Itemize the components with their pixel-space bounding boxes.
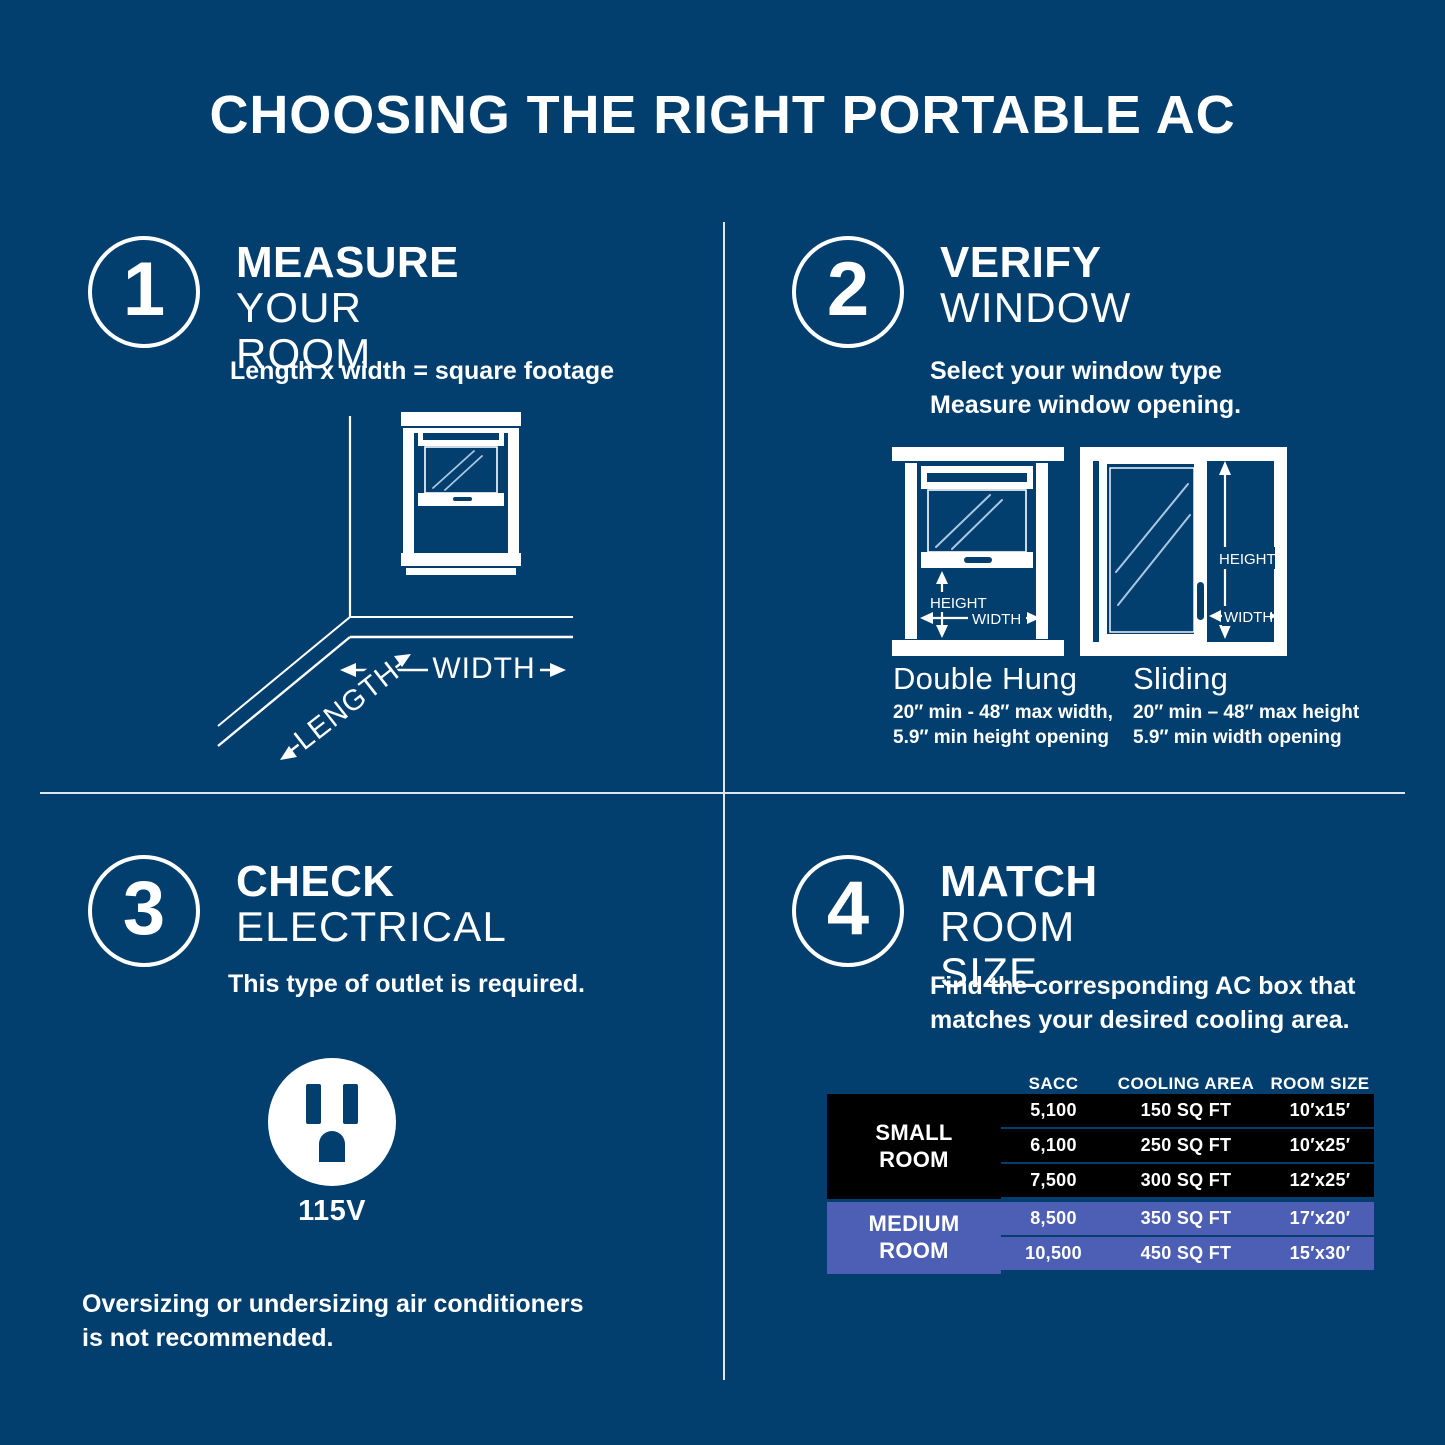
power-outlet-icon — [259, 1058, 405, 1186]
table-header-row: SACC COOLING AREA ROOM SIZE — [827, 1065, 1374, 1094]
double-hung-window-figure: HEIGHT WIDTH — [892, 447, 1064, 656]
ac-sizing-table: SACC COOLING AREA ROOM SIZE SMALL ROOM M… — [827, 1065, 1374, 1274]
table-row: 8,500 350 SQ FT 17′x20′ — [1001, 1202, 1374, 1235]
window-type-detail-2: 5.9″ min height opening — [893, 725, 1113, 750]
step-3-note: Oversizing or undersizing air conditione… — [82, 1288, 583, 1355]
group-label-line2: ROOM — [879, 1238, 949, 1265]
step-1-number-badge: 1 — [88, 236, 200, 348]
cell-cooling-area: 150 SQ FT — [1106, 1100, 1266, 1121]
step-2-heading: VERIFY WINDOW — [940, 240, 1131, 331]
divider-horizontal — [40, 792, 1405, 794]
step-3-title-light: ELECTRICAL — [236, 904, 507, 949]
sliding-window-figure: HEIGHT WIDTH — [1080, 447, 1287, 656]
cell-cooling-area: 250 SQ FT — [1106, 1135, 1266, 1156]
window-type-sliding-caption: Sliding 20″ min – 48″ max height 5.9″ mi… — [1133, 662, 1359, 750]
window-types-diagram: HEIGHT WIDTH — [884, 442, 1364, 662]
step-4-number: 4 — [827, 871, 869, 947]
cell-cooling-area: 450 SQ FT — [1106, 1243, 1266, 1264]
window-type-name: Sliding — [1133, 662, 1359, 697]
table-row: 5,100 150 SQ FT 10′x15′ — [1001, 1094, 1374, 1127]
step-2-subtitle-line1: Select your window type — [930, 355, 1241, 389]
svg-text:WIDTH: WIDTH — [972, 611, 1021, 628]
cell-room-size: 12′x25′ — [1266, 1170, 1374, 1191]
step-1-heading: MEASURE YOUR ROOM — [236, 240, 459, 376]
svg-text:HEIGHT: HEIGHT — [1219, 551, 1276, 568]
table-body: SMALL ROOM MEDIUM ROOM 5,100 150 SQ FT 1… — [827, 1094, 1374, 1274]
table-group-label-medium-room: MEDIUM ROOM — [827, 1202, 1001, 1274]
svg-text:WIDTH: WIDTH — [432, 652, 535, 685]
room-measurement-diagram: WIDTH LENGTH — [190, 398, 610, 778]
step-2-number-badge: 2 — [792, 236, 904, 348]
table-header-sacc: SACC — [1001, 1074, 1106, 1094]
outlet-voltage-label: 115V — [259, 1195, 405, 1228]
step-1-subtitle: Length x width = square footage — [230, 357, 614, 386]
window-type-double-hung-caption: Double Hung 20″ min - 48″ max width, 5.9… — [893, 662, 1113, 750]
step-3-subtitle: This type of outlet is required. — [228, 970, 585, 999]
table-data-rows: 5,100 150 SQ FT 10′x15′ 6,100 250 SQ FT … — [1001, 1094, 1374, 1274]
cell-room-size: 10′x15′ — [1266, 1100, 1374, 1121]
table-header-room-size: ROOM SIZE — [1266, 1074, 1374, 1094]
cell-sacc: 5,100 — [1001, 1100, 1106, 1121]
cell-sacc: 8,500 — [1001, 1208, 1106, 1229]
window-type-name: Double Hung — [893, 662, 1113, 697]
step-3-note-line2: is not recommended. — [82, 1322, 583, 1356]
step-4-title-bold: MATCH — [940, 859, 1098, 904]
group-label-line1: MEDIUM — [868, 1211, 959, 1238]
step-4-subtitle-line2: matches your desired cooling area. — [930, 1004, 1355, 1038]
step-3-note-line1: Oversizing or undersizing air conditione… — [82, 1288, 583, 1322]
page-title: CHOOSING THE RIGHT PORTABLE AC — [0, 84, 1445, 146]
step-4-number-badge: 4 — [792, 855, 904, 967]
window-type-detail-2: 5.9″ min width opening — [1133, 725, 1359, 750]
cell-sacc: 6,100 — [1001, 1135, 1106, 1156]
step-3-number-badge: 3 — [88, 855, 200, 967]
step-2-subtitle-line2: Measure window opening. — [930, 389, 1241, 423]
step-3-heading: CHECK ELECTRICAL — [236, 859, 507, 950]
group-label-line2: ROOM — [879, 1147, 949, 1174]
window-type-detail-1: 20″ min - 48″ max width, — [893, 700, 1113, 725]
cell-sacc: 10,500 — [1001, 1243, 1106, 1264]
infographic-page: CHOOSING THE RIGHT PORTABLE AC 1 MEASURE… — [0, 0, 1445, 1445]
cell-room-size: 17′x20′ — [1266, 1208, 1374, 1229]
step-1-title-bold: MEASURE — [236, 240, 459, 285]
cell-room-size: 15′x30′ — [1266, 1243, 1374, 1264]
window-type-detail-1: 20″ min – 48″ max height — [1133, 700, 1359, 725]
step-4-subtitle-line1: Find the corresponding AC box that — [930, 970, 1355, 1004]
step-2-title-bold: VERIFY — [940, 240, 1131, 285]
cell-cooling-area: 350 SQ FT — [1106, 1208, 1266, 1229]
svg-text:WIDTH: WIDTH — [1224, 609, 1273, 626]
cell-sacc: 7,500 — [1001, 1170, 1106, 1191]
cell-cooling-area: 300 SQ FT — [1106, 1170, 1266, 1191]
divider-vertical — [723, 222, 725, 1380]
step-4-subtitle: Find the corresponding AC box that match… — [930, 970, 1355, 1037]
table-group-labels: SMALL ROOM MEDIUM ROOM — [827, 1094, 1001, 1274]
cell-room-size: 10′x25′ — [1266, 1135, 1374, 1156]
step-2-title-light: WINDOW — [940, 285, 1131, 330]
table-row: 10,500 450 SQ FT 15′x30′ — [1001, 1237, 1374, 1270]
step-2-number: 2 — [827, 252, 869, 328]
step-3-title-bold: CHECK — [236, 859, 507, 904]
step-3-number: 3 — [123, 871, 165, 947]
step-1-number: 1 — [123, 252, 165, 328]
table-group-label-small-room: SMALL ROOM — [827, 1094, 1001, 1199]
group-label-line1: SMALL — [875, 1120, 952, 1147]
table-row: 7,500 300 SQ FT 12′x25′ — [1001, 1164, 1374, 1197]
table-row: 6,100 250 SQ FT 10′x25′ — [1001, 1129, 1374, 1162]
step-2-subtitle: Select your window type Measure window o… — [930, 355, 1241, 422]
table-header-cooling-area: COOLING AREA — [1106, 1074, 1266, 1094]
